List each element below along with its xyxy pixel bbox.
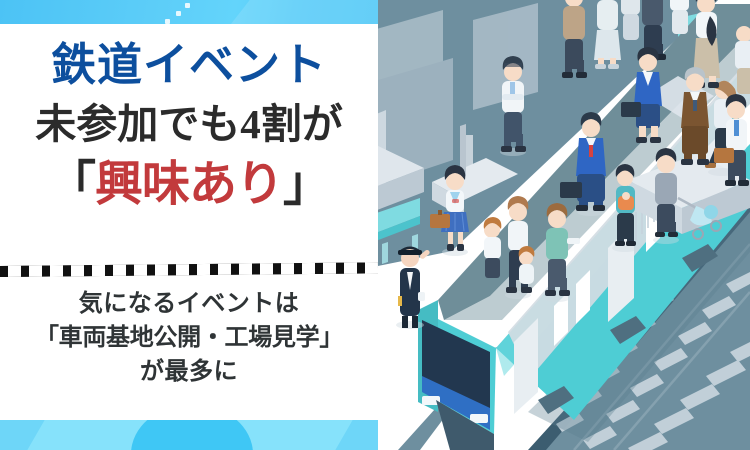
band-arc-center — [131, 420, 253, 450]
headline-block: 鉄道イベント 未参加でも4割が 「興味あり」 — [0, 24, 378, 218]
top-decorative-band — [0, 0, 378, 24]
band-dot-1 — [185, 3, 190, 8]
bottom-decorative-band — [0, 420, 378, 450]
subcopy-line-3: が最多に — [0, 355, 378, 389]
quote-close: 」 — [283, 158, 330, 211]
briefcase-dark — [560, 182, 582, 198]
quote-line: 「興味あり」 — [0, 152, 378, 218]
phone — [567, 238, 580, 244]
person-pale-dress — [594, 0, 621, 69]
handbag — [621, 102, 641, 117]
band-dot-2 — [176, 11, 181, 16]
briefcase — [430, 214, 450, 228]
child-1 — [484, 217, 502, 278]
illustration-train-station — [378, 0, 750, 450]
quote-keyword: 興味あり — [95, 158, 283, 211]
subtitle: 未参加でも4割が — [0, 96, 378, 152]
subcopy-line-2: 「車両基地公開・工場見学」 — [0, 321, 378, 355]
person-bg-1 — [621, 0, 640, 40]
band-shape-left — [0, 420, 45, 450]
dashed-rail-divider — [0, 262, 378, 277]
subcopy-line-1: 気になるイベントは — [0, 287, 378, 321]
briefcase — [714, 148, 734, 163]
person-bg-3 — [735, 26, 750, 94]
quote-open: 「 — [48, 158, 95, 211]
main-title: 鉄道イベント — [0, 24, 378, 96]
band-shape-right — [335, 420, 378, 450]
person-bg-2 — [670, 0, 689, 34]
text-panel: 鉄道イベント 未参加でも4割が 「興味あり」 気になるイベントは 「車両基地公開… — [0, 0, 378, 450]
subcopy-block: 気になるイベントは 「車両基地公開・工場見学」 が最多に — [0, 287, 378, 389]
banner-image: 鉄道イベント 未参加でも4割が 「興味あり」 気になるイベントは 「車両基地公開… — [0, 0, 750, 450]
